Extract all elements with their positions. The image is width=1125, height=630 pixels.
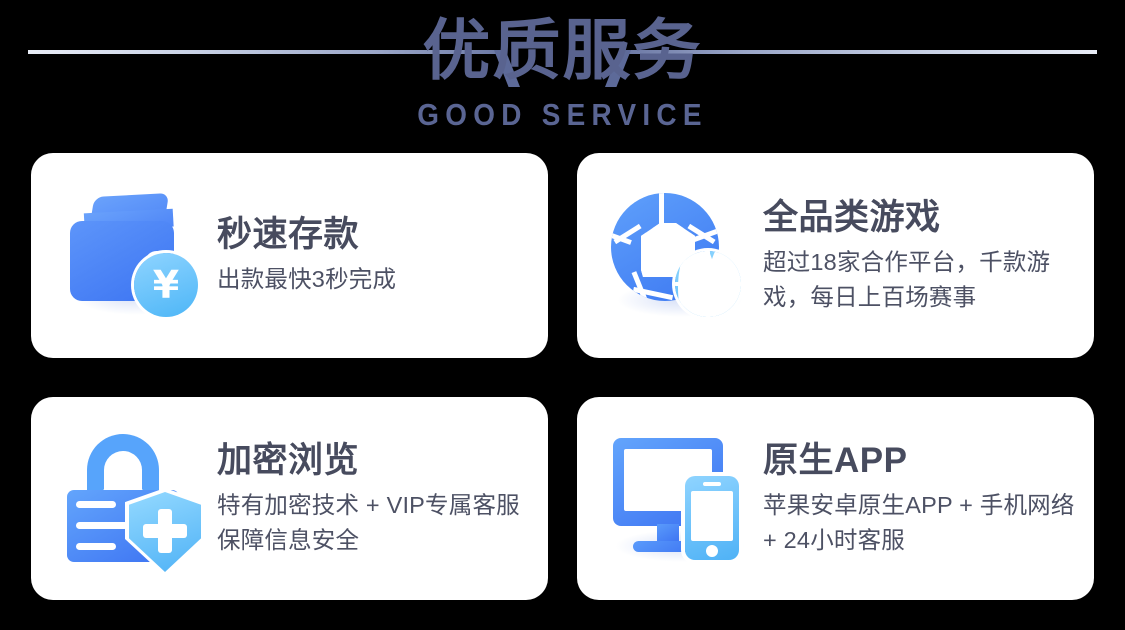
card-description: 出款最快3秒完成 bbox=[217, 262, 532, 297]
feature-card-games[interactable]: 全品类游戏 超过18家合作平台，千款游戏，每日上百场赛事 bbox=[577, 153, 1094, 358]
page-title: 优质服务 bbox=[0, 14, 1125, 88]
feature-card-text: 秒速存款 出款最快3秒完成 bbox=[217, 214, 548, 297]
card-description: 苹果安卓原生APP + 手机网络 + 24小时客服 bbox=[763, 488, 1078, 558]
banner-header: 优质服务 GOOD SERVICE bbox=[0, 0, 1125, 145]
feature-card-native-app[interactable]: 原生APP 苹果安卓原生APP + 手机网络 + 24小时客服 bbox=[577, 397, 1094, 600]
feature-card-text: 加密浏览 特有加密技术 + VIP专属客服保障信息安全 bbox=[217, 440, 548, 558]
lock-shield-icon bbox=[61, 426, 211, 571]
soccer-basketball-icon bbox=[607, 183, 757, 328]
feature-card-text: 原生APP 苹果安卓原生APP + 手机网络 + 24小时客服 bbox=[763, 440, 1094, 558]
monitor-phone-icon bbox=[607, 426, 757, 571]
wallet-coin-icon: ¥ bbox=[61, 183, 211, 328]
card-title: 原生APP bbox=[763, 440, 1078, 482]
feature-card-deposit[interactable]: ¥ 秒速存款 出款最快3秒完成 bbox=[31, 153, 548, 358]
feature-card-grid: ¥ 秒速存款 出款最快3秒完成 bbox=[31, 153, 1094, 600]
promo-banner: 优质服务 GOOD SERVICE ¥ 秒速存款 出款最快3秒完成 bbox=[0, 0, 1125, 630]
card-description: 特有加密技术 + VIP专属客服保障信息安全 bbox=[217, 488, 532, 558]
card-title: 秒速存款 bbox=[217, 214, 532, 256]
page-subtitle: GOOD SERVICE bbox=[56, 98, 1069, 132]
card-title: 加密浏览 bbox=[217, 440, 532, 482]
feature-card-encryption[interactable]: 加密浏览 特有加密技术 + VIP专属客服保障信息安全 bbox=[31, 397, 548, 600]
yen-coin-icon: ¥ bbox=[134, 253, 198, 317]
card-description: 超过18家合作平台，千款游戏，每日上百场赛事 bbox=[763, 245, 1078, 315]
feature-card-text: 全品类游戏 超过18家合作平台，千款游戏，每日上百场赛事 bbox=[763, 197, 1094, 315]
card-title: 全品类游戏 bbox=[763, 197, 1078, 239]
